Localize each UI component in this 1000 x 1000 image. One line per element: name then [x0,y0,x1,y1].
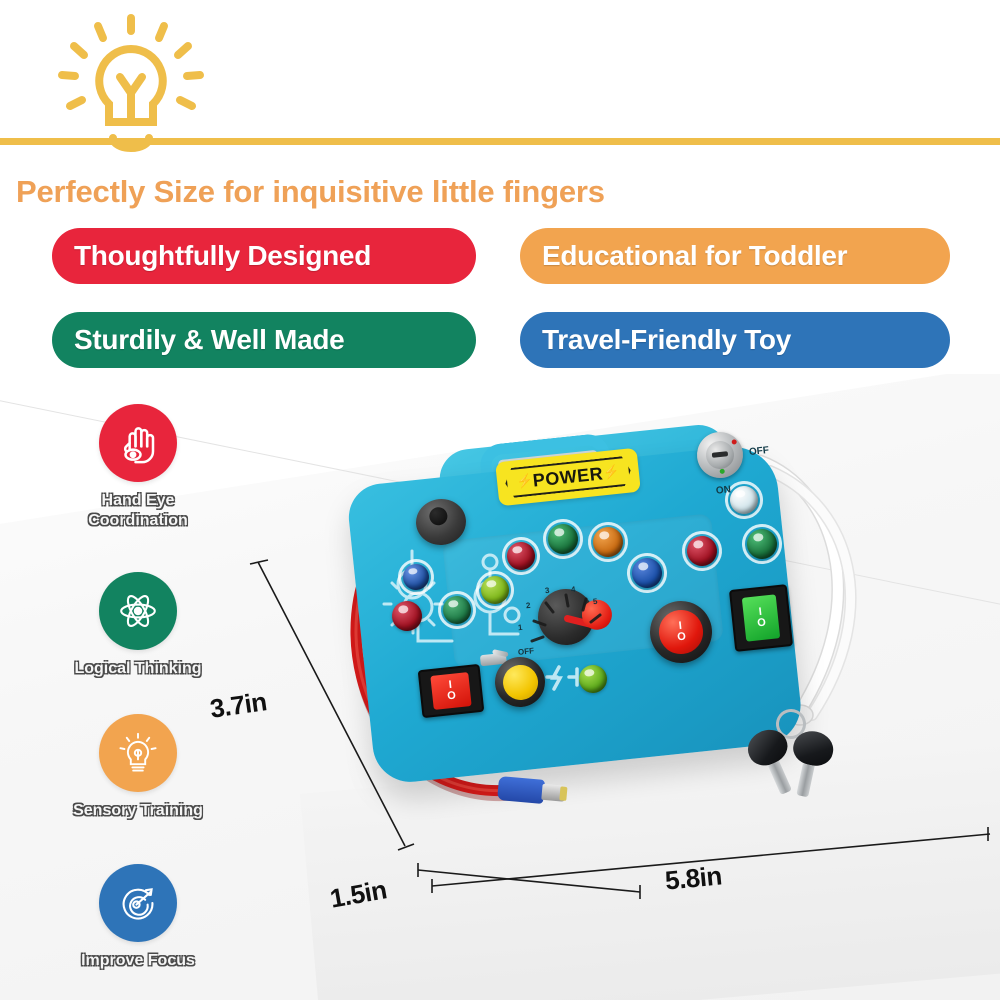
badge-label: Educational for Toddler [542,240,847,272]
badge-sturdily-well-made[interactable]: Sturdily & Well Made [52,312,476,368]
badge-label: Sturdily & Well Made [74,324,344,356]
dimension-width-label: 5.8in [664,860,723,896]
page-headline: Perfectly Size for inquisitive little fi… [16,174,605,210]
product-infographic: Perfectly Size for inquisitive little fi… [0,0,1000,1000]
badge-educational-for-toddler[interactable]: Educational for Toddler [520,228,950,284]
dimension-lines [0,374,1000,1000]
badge-travel-friendly-toy[interactable]: Travel-Friendly Toy [520,312,950,368]
badge-label: Thoughtfully Designed [74,240,371,272]
lightbulb-icon [36,14,226,164]
badge-label: Travel-Friendly Toy [542,324,791,356]
product-photo-stage: Hand EyeCoordination Logical Thinking [0,374,1000,1000]
badge-thoughtfully-designed[interactable]: Thoughtfully Designed [52,228,476,284]
